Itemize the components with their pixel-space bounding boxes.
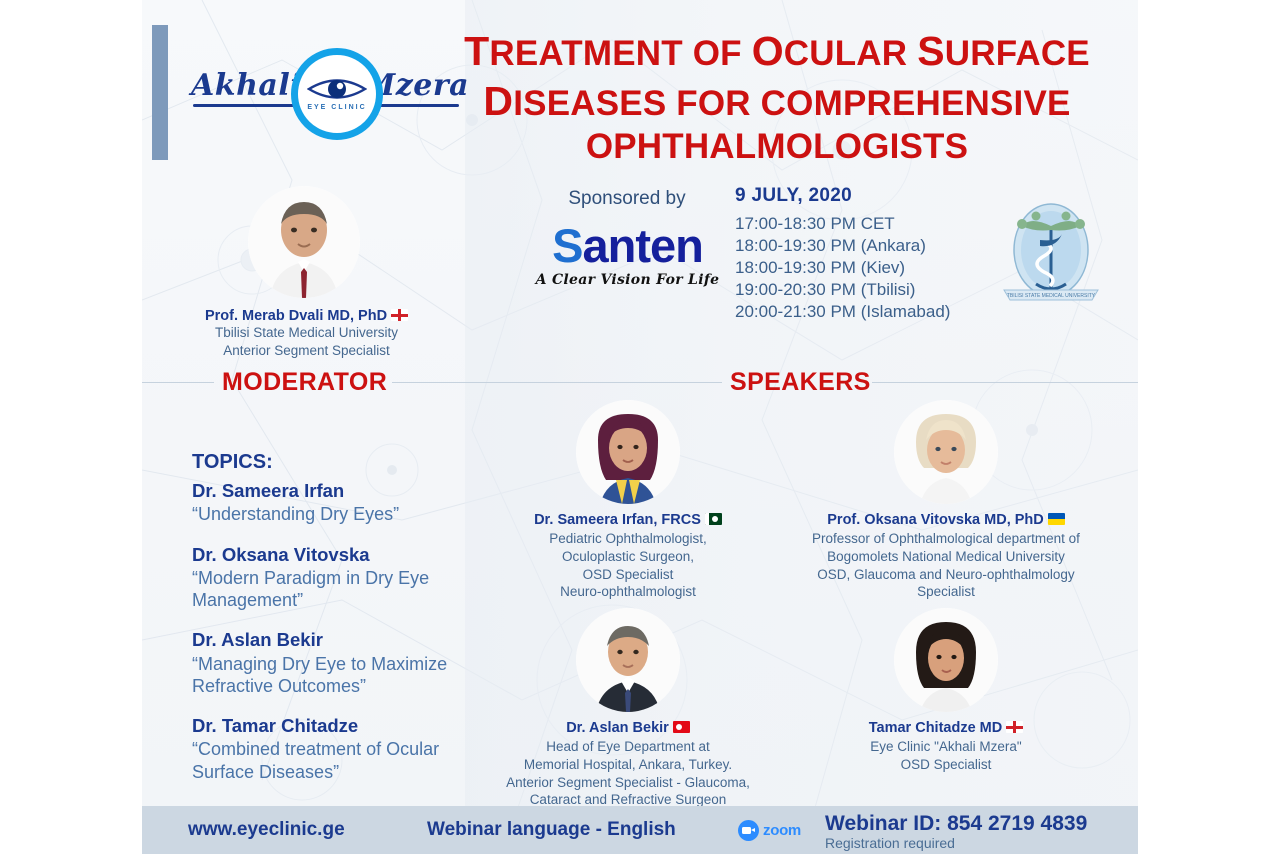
webinar-poster: Akhali Mzera EYE CLINIC TREATMENT OF OCU… — [142, 0, 1138, 854]
topic-item: Dr. Oksana Vitovska “Modern Paradigm in … — [192, 544, 462, 612]
title-line-1: TREATMENT OF OCULAR SURFACE — [442, 26, 1112, 76]
speaker-card: Tamar Chitadze MD Eye Clinic "Akhali Mze… — [801, 608, 1091, 774]
flag-pakistan-icon — [705, 513, 722, 525]
speaker-card: Dr. Sameera Irfan, FRCS Pediatric Ophtha… — [483, 400, 773, 601]
svg-text:TBILISI STATE MEDICAL UNIVERSI: TBILISI STATE MEDICAL UNIVERSITY — [1007, 293, 1096, 299]
flag-turkey-icon — [673, 721, 690, 733]
speaker-card: Prof. Oksana Vitovska MD, PhD Professor … — [801, 400, 1091, 601]
webinar-language: Webinar language - English — [427, 819, 676, 841]
registration-note: Registration required — [825, 835, 955, 851]
clinic-logo: Akhali Mzera EYE CLINIC — [187, 46, 462, 141]
zoom-camera-icon — [738, 820, 759, 841]
speaker-bio: Professor of Ophthalmological department… — [801, 530, 1091, 601]
zoom-label: zoom — [763, 822, 801, 839]
event-date: 9 JULY, 2020 — [735, 185, 1015, 207]
speaker-bio: Eye Clinic "Akhali Mzera" OSD Specialist — [801, 738, 1091, 774]
speaker-avatar — [576, 608, 680, 712]
divider-line — [872, 382, 1138, 383]
moderator-avatar — [248, 186, 360, 298]
speaker-name: Dr. Aslan Bekir — [483, 720, 773, 736]
speaker-name: Tamar Chitadze MD — [801, 720, 1091, 736]
title-line-3: OPHTHALMOLOGISTS — [442, 126, 1112, 169]
speaker-bio: Head of Eye Department at Memorial Hospi… — [483, 738, 773, 809]
flag-ukraine-icon — [1048, 513, 1065, 525]
logo-word-left: Akhali — [191, 68, 302, 103]
topic-item: Dr. Aslan Bekir “Managing Dry Eye to Max… — [192, 629, 462, 697]
flag-georgia-icon — [1006, 721, 1023, 733]
footer-bar: www.eyeclinic.ge Webinar language - Engl… — [142, 806, 1138, 854]
time-line: 19:00-20:30 PM (Tbilisi) — [735, 279, 1015, 301]
topics-list: Dr. Sameera Irfan “Understanding Dry Eye… — [192, 480, 462, 801]
speaker-avatar — [894, 608, 998, 712]
topic-item: Dr. Sameera Irfan “Understanding Dry Eye… — [192, 480, 462, 526]
time-line: 18:00-19:30 PM (Ankara) — [735, 235, 1015, 257]
santen-logo: Santen A Clear Vision For Life — [500, 222, 755, 288]
time-line: 20:00-21:30 PM (Islamabad) — [735, 301, 1015, 323]
speaker-name: Prof. Oksana Vitovska MD, PhD — [801, 512, 1091, 528]
eye-icon — [307, 74, 367, 104]
zoom-brand: zoom — [738, 820, 801, 841]
topics-heading: TOPICS: — [192, 451, 273, 474]
santen-tagline: A Clear Vision For Life — [500, 272, 755, 288]
speaker-avatar — [576, 400, 680, 504]
left-accent-bar — [152, 25, 168, 160]
sponsored-by-label: Sponsored by — [502, 188, 752, 210]
speaker-avatar — [894, 400, 998, 504]
website-link[interactable]: www.eyeclinic.ge — [188, 819, 345, 841]
santen-wordmark: Santen — [500, 222, 755, 269]
speaker-name: Dr. Sameera Irfan, FRCS — [483, 512, 773, 528]
topic-item: Dr. Tamar Chitadze “Combined treatment o… — [192, 715, 462, 783]
university-medical-emblem-icon: TBILISI STATE MEDICAL UNIVERSITY — [992, 196, 1110, 308]
speakers-section-heading: SPEAKERS — [730, 368, 871, 397]
webinar-id: Webinar ID: 854 2719 4839 — [825, 812, 1087, 836]
logo-underline-left — [193, 104, 305, 107]
logo-subtext: EYE CLINIC — [295, 104, 379, 111]
time-line: 18:00-19:30 PM (Kiev) — [735, 257, 1015, 279]
moderator-affiliation: Tbilisi State Medical University Anterio… — [164, 324, 449, 360]
title-line-2: DISEASES FOR COMPREHENSIVE — [442, 76, 1112, 126]
speaker-card: Dr. Aslan Bekir Head of Eye Department a… — [483, 608, 773, 809]
moderator-section-heading: MODERATOR — [222, 368, 387, 397]
page-title: TREATMENT OF OCULAR SURFACE DISEASES FOR… — [442, 26, 1112, 169]
flag-georgia-icon — [391, 309, 408, 321]
time-line: 17:00-18:30 PM CET — [735, 213, 1015, 235]
moderator-name: Prof. Merab Dvali MD, PhD — [164, 308, 449, 324]
divider-line — [392, 382, 722, 383]
speaker-bio: Pediatric Ophthalmologist, Oculoplastic … — [483, 530, 773, 601]
schedule-block: 9 JULY, 2020 17:00-18:30 PM CET 18:00-19… — [735, 185, 1015, 323]
divider-line — [142, 382, 214, 383]
